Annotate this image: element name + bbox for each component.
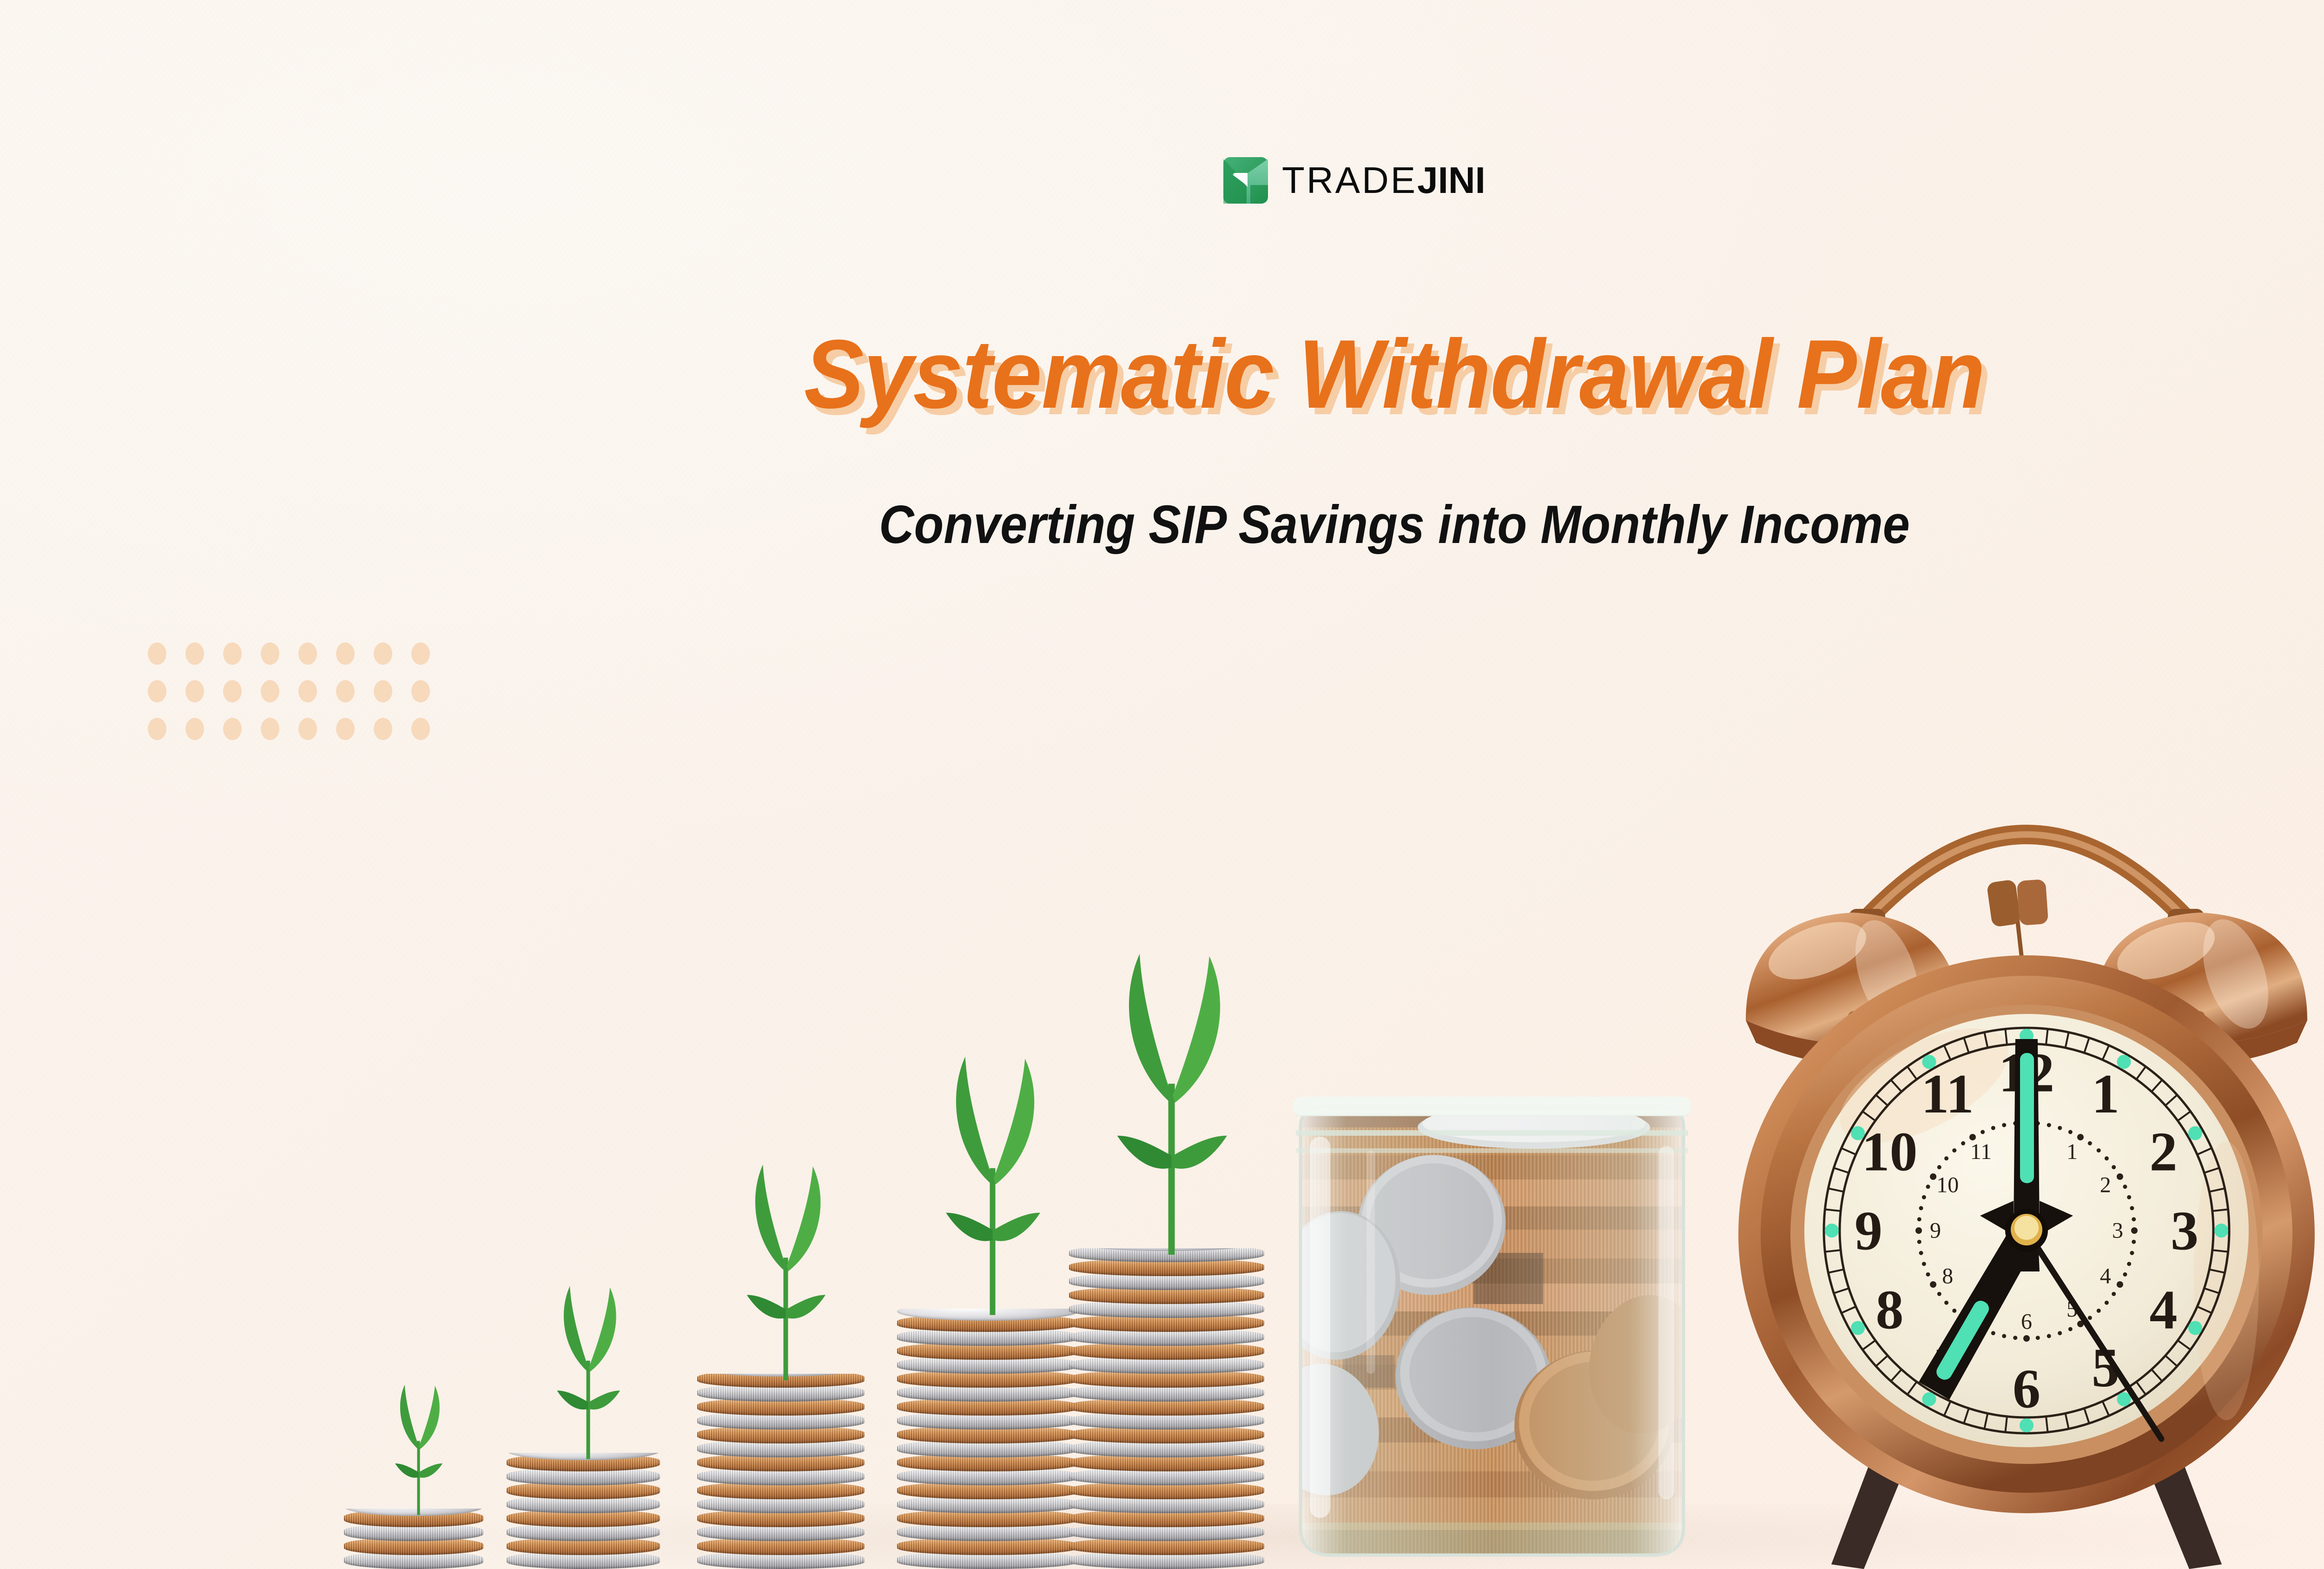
decor-dot [148, 642, 185, 680]
coin-stack [1069, 1109, 1264, 1569]
decor-dot [411, 642, 449, 680]
tradejini-logo-icon [1223, 157, 1268, 204]
decor-dot [374, 642, 411, 680]
clock-inner-dot [1926, 1272, 1930, 1277]
decor-dot [298, 680, 336, 718]
clock-inner-dot [2097, 1309, 2101, 1313]
coin-stack [697, 1234, 865, 1569]
clock-lume-dot [2188, 1321, 2202, 1335]
clock-inner-dot [2088, 1141, 2092, 1145]
clock-hour-numeral: 8 [1876, 1279, 1904, 1341]
decor-dot [223, 642, 261, 680]
coin-stack [507, 1313, 660, 1569]
clock-inner-dot [1922, 1262, 1926, 1266]
clock-inner-dot [2130, 1206, 2134, 1210]
seedling-sprout [537, 1283, 639, 1459]
clock-inner-dot [1919, 1251, 1923, 1255]
decor-dot [411, 680, 449, 718]
clock-hour-numeral: 1 [2092, 1063, 2119, 1125]
coin-stack-coins [507, 1453, 660, 1569]
clock-inner-dot [1917, 1217, 1921, 1221]
clock-inner-dot [2117, 1281, 2123, 1288]
decor-dot [374, 680, 411, 718]
clock-lume-dot [2020, 1418, 2033, 1432]
decor-dot [298, 642, 336, 680]
clock-inner-dot [2105, 1301, 2109, 1305]
seedling-sprout [380, 1382, 457, 1515]
clock-inner-dot [2002, 1334, 2006, 1338]
clock-inner-dot [2112, 1165, 2116, 1169]
clock-inner-dot [2088, 1316, 2092, 1320]
clock-lume-dot [1851, 1321, 1865, 1335]
clock-inner-dot [2105, 1156, 2109, 1160]
clock-inner-numeral: 6 [2021, 1310, 2032, 1334]
clock-inner-dot [2047, 1334, 2051, 1338]
page-subtitle: Converting SIP Savings into Monthly Inco… [139, 497, 2324, 551]
clock-hour-numeral: 9 [1855, 1200, 1882, 1262]
clock-inner-numeral: 8 [1942, 1264, 1953, 1289]
clock-inner-dot [2068, 1130, 2073, 1134]
clock-inner-dot [2130, 1251, 2134, 1255]
clock-hour-numeral: 3 [2171, 1200, 2199, 1262]
clock-inner-dot [1915, 1227, 1922, 1234]
clock-inner-dot [2036, 1336, 2040, 1340]
clock-inner-numeral: 10 [1936, 1173, 1959, 1198]
clock-inner-dot [2123, 1272, 2127, 1277]
clock-inner-dot [1919, 1206, 1923, 1210]
clock-inner-dot [1930, 1173, 1936, 1180]
clock-lume-dot [1825, 1224, 1839, 1238]
clock-hour-numeral: 10 [1862, 1121, 1918, 1183]
jar-rim [1293, 1097, 1691, 1115]
clock-hour-numeral: 4 [2149, 1279, 2177, 1341]
clock-inner-dot [2047, 1123, 2051, 1127]
clock-inner-dot [2097, 1148, 2101, 1152]
twin-bell-alarm-clock: 121234567891011 1234567891011 [1664, 732, 2324, 1569]
clock-inner-dot [1937, 1165, 1941, 1169]
brand-name-bold: JINI [1417, 159, 1486, 201]
coin-stack-coins [697, 1374, 865, 1569]
brand-wordmark: TRADEJINI [1282, 162, 1486, 199]
decor-dot [336, 680, 374, 718]
glass-coin-jar [1274, 1058, 1710, 1569]
clock-inner-dot [2123, 1185, 2127, 1189]
coin-stack [897, 1169, 1078, 1569]
seedling-sprout [917, 1052, 1069, 1315]
clock-lume-dot [2214, 1224, 2228, 1238]
hero-imagery: 121234567891011 1234567891011 [0, 732, 2324, 1569]
clock-inner-dot [2077, 1134, 2084, 1140]
brand-logo[interactable]: TRADEJINI [1223, 157, 1486, 204]
clock-inner-numeral: 3 [2112, 1218, 2123, 1243]
clock-inner-dot [1952, 1148, 1956, 1152]
clock-inner-dot [2132, 1240, 2136, 1244]
decor-dot [185, 680, 223, 718]
page-title: Systematic Withdrawal Plan [112, 325, 2324, 423]
clock-inner-numeral: 2 [2100, 1173, 2111, 1198]
clock-inner-dot [2112, 1292, 2116, 1296]
clock-inner-numeral: 4 [2100, 1264, 2111, 1289]
decor-dot [261, 642, 298, 680]
jar-glass [1301, 1107, 1684, 1555]
coin-stack-coins [344, 1509, 483, 1569]
clock-inner-numeral: 11 [1970, 1139, 1992, 1164]
clock-inner-dot [1926, 1185, 1930, 1189]
clock-inner-dot [2058, 1331, 2062, 1335]
clock-inner-dot [2117, 1173, 2123, 1180]
coin-stack [344, 1369, 483, 1569]
clock-inner-dot [1930, 1281, 1936, 1288]
clock-hour-numeral: 2 [2149, 1121, 2177, 1183]
clock-inner-dot [2127, 1195, 2131, 1199]
clock-inner-dot [2002, 1123, 2006, 1127]
decor-dot [261, 680, 298, 718]
seedling-sprout [1083, 948, 1260, 1255]
clock-inner-numeral: 1 [2067, 1139, 2078, 1164]
clock-inner-dot [1991, 1331, 1995, 1335]
clock-inner-dot [1937, 1292, 1941, 1296]
clock-inner-numeral: 9 [1930, 1218, 1941, 1243]
banner-canvas: TRADEJINI Systematic Withdrawal Plan Con… [0, 0, 2324, 1569]
clock-inner-dot [2127, 1262, 2131, 1266]
decor-dot [223, 680, 261, 718]
seedling-sprout [722, 1160, 849, 1380]
coin-stack-coins [1069, 1248, 1264, 1569]
clock-lume-dot [2188, 1126, 2202, 1140]
clock-inner-dot [1961, 1141, 1965, 1145]
clock-inner-dot [2068, 1327, 2073, 1331]
brand-name-light: TRADE [1282, 159, 1417, 201]
coin-stack-coins [897, 1309, 1078, 1569]
clock-inner-dot [1922, 1195, 1926, 1199]
clock-inner-dot [2023, 1335, 2030, 1342]
decor-dot [148, 680, 185, 718]
clock-inner-dot [1944, 1301, 1948, 1305]
clock-inner-dot [1944, 1156, 1948, 1160]
clock-inner-dot [2058, 1126, 2062, 1130]
clock-inner-dot [1917, 1240, 1921, 1244]
clock-inner-dot [2013, 1336, 2017, 1340]
clock-inner-dot [1991, 1126, 1995, 1130]
clock-inner-dot [1981, 1130, 1985, 1134]
clock-hour-numeral: 6 [2013, 1358, 2040, 1420]
decor-dot [185, 642, 223, 680]
clock-inner-dot [2131, 1227, 2138, 1234]
decor-dot [336, 642, 374, 680]
clock-inner-dot [2132, 1217, 2136, 1221]
clock-hour-numeral: 11 [1921, 1063, 1974, 1125]
clock-inner-dot [1952, 1309, 1956, 1313]
